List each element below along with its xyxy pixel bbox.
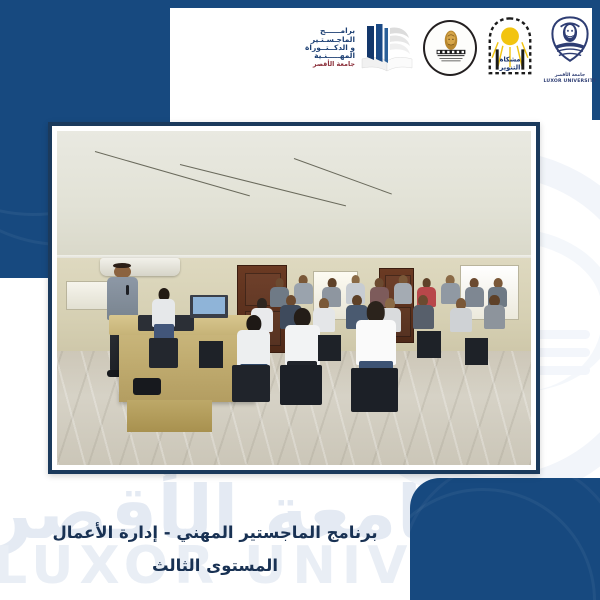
- ministry-of-higher-education-logo: [423, 13, 477, 83]
- photo-chair: [199, 341, 223, 368]
- caption-line-1: برنامج الماجستير المهني - إدارة الأعمال: [0, 520, 430, 546]
- caption-line-2: المستوى الثالث: [0, 553, 430, 579]
- photo-chair: [318, 335, 342, 362]
- bottom-right-blue-panel: [410, 478, 600, 600]
- photo-microphone: [126, 285, 129, 295]
- photo-chair: [149, 338, 177, 368]
- lecture-hall-session-photo: [57, 131, 531, 465]
- photo-presenter-torso: [107, 277, 138, 320]
- luxor-university-logo-caption: جامعة الأقصر LUXOR UNIVERSITY: [543, 73, 597, 84]
- logo-bar: برامــــــج الماجـسـتـير و الدكــتــوراة…: [285, 10, 590, 86]
- photo-chair: [280, 365, 323, 405]
- photo-ceiling: [57, 131, 531, 265]
- lecture-hall-session-photo-frame: [48, 122, 540, 474]
- mishkat-al-tanweer-logo: مشكاة التنوير: [485, 16, 535, 80]
- photo-laptop: [190, 295, 228, 318]
- photo-mat: [52, 126, 536, 470]
- top-blue-strip: [160, 0, 600, 8]
- professional-masters-doctorate-programs-logo: برامــــــج الماجـسـتـير و الدكــتــوراة…: [285, 13, 415, 83]
- program-logo-text: برامــــــج الماجـسـتـير و الدكــتــوراة…: [305, 27, 355, 68]
- caption-block: برنامج الماجستير المهني - إدارة الأعمال …: [0, 520, 430, 578]
- photo-chair: [465, 338, 489, 365]
- pharaoh-shield-icon: [543, 15, 597, 69]
- sun-arch-icon: مشكاة التنوير: [485, 16, 535, 78]
- open-book-icon: [359, 23, 415, 73]
- photo-chair: [232, 365, 270, 402]
- luxor-university-caption-en: LUXOR UNIVERSITY: [543, 79, 597, 85]
- photo-chair: [417, 331, 441, 358]
- svg-text:التنوير: التنوير: [499, 64, 521, 72]
- luxor-university-logo: جامعة الأقصر LUXOR UNIVERSITY: [543, 15, 597, 81]
- photo-bag-on-floor: [133, 378, 161, 395]
- photo-window: [66, 281, 111, 310]
- photo-chair: [351, 368, 398, 411]
- poster-canvas: جامعة الأقصر LUXOR UNIVERSITY: [0, 0, 600, 600]
- svg-text:مشكاة: مشكاة: [500, 55, 521, 63]
- pharaoh-circle-icon: [423, 20, 477, 76]
- photo-attendee-front: [152, 288, 176, 345]
- program-logo-subtitle: جامعة الأقصر: [305, 61, 355, 68]
- decorative-arc-br-secondary-icon: [410, 478, 600, 600]
